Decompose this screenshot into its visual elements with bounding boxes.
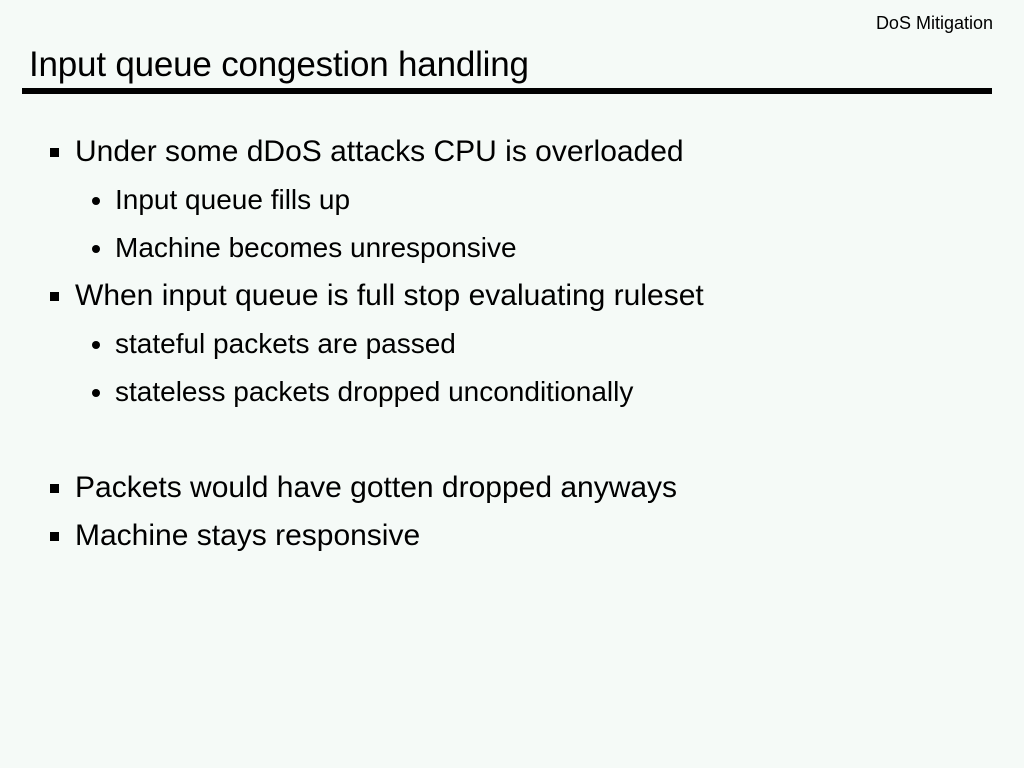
list-item: stateless packets dropped unconditionall… xyxy=(0,368,1024,416)
list-item: stateful packets are passed xyxy=(0,320,1024,368)
list-item-label: Under some dDoS attacks CPU is overloade… xyxy=(75,128,684,176)
list-item: Under some dDoS attacks CPU is overloade… xyxy=(0,128,1024,176)
slide-running-header: DoS Mitigation xyxy=(876,12,993,34)
list-item: Input queue fills up xyxy=(0,176,1024,224)
list-item-label: Input queue fills up xyxy=(115,176,350,224)
round-bullet-glyph xyxy=(92,245,100,253)
square-bullet-glyph xyxy=(50,532,59,541)
list-item: When input queue is full stop evaluating… xyxy=(0,272,1024,320)
list-item-label: stateful packets are passed xyxy=(115,320,456,368)
slide: DoS Mitigation Input queue congestion ha… xyxy=(0,0,1024,768)
square-bullet-glyph xyxy=(50,292,59,301)
round-bullet-glyph xyxy=(92,197,100,205)
list-item-label: Machine becomes unresponsive xyxy=(115,224,517,272)
square-bullet-glyph xyxy=(50,484,59,493)
list-item-label: Machine stays responsive xyxy=(75,512,420,560)
list-item-label: stateless packets dropped unconditionall… xyxy=(115,368,633,416)
bullet-spacer xyxy=(0,416,1024,464)
list-item-label: When input queue is full stop evaluating… xyxy=(75,272,704,320)
square-bullet-glyph xyxy=(50,148,59,157)
list-item: Machine becomes unresponsive xyxy=(0,224,1024,272)
page-title: Input queue congestion handling xyxy=(29,44,529,86)
list-item-label: Packets would have gotten dropped anyway… xyxy=(75,464,677,512)
bullet-list: Under some dDoS attacks CPU is overloade… xyxy=(0,128,1024,560)
round-bullet-glyph xyxy=(92,389,100,397)
list-item: Packets would have gotten dropped anyway… xyxy=(0,464,1024,512)
title-divider xyxy=(22,88,992,94)
round-bullet-glyph xyxy=(92,341,100,349)
list-item: Machine stays responsive xyxy=(0,512,1024,560)
